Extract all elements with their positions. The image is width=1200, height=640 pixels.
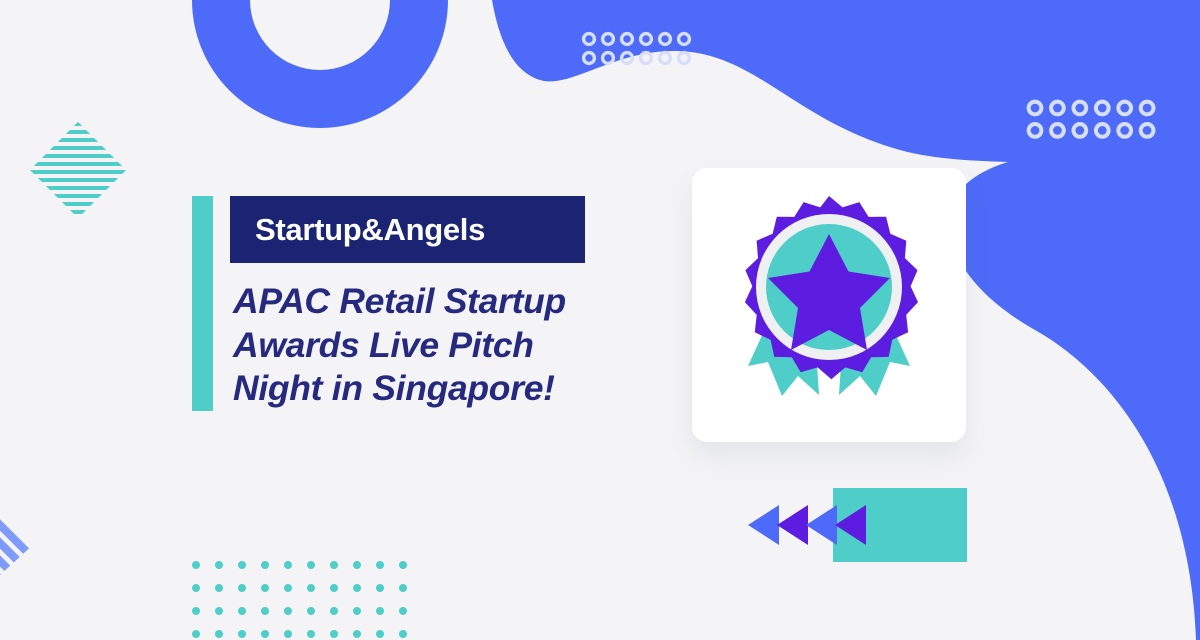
- brand-badge: Startup&Angels: [230, 196, 585, 263]
- event-banner: Startup&Angels APAC Retail Startup Award…: [0, 0, 1200, 640]
- headline-line-3: Night in Singapore!: [233, 367, 633, 411]
- accent-bar: [192, 196, 213, 411]
- brand-label: Startup&Angels: [230, 214, 485, 245]
- left-arrow-icon-3: [806, 505, 837, 545]
- left-arrow-icon-4: [835, 505, 866, 545]
- headline-line-1: APAC Retail Startup: [233, 280, 633, 324]
- page-title: APAC Retail Startup Awards Live Pitch Ni…: [233, 280, 633, 411]
- arrow-accent-group: [748, 488, 968, 562]
- award-badge-icon: [714, 190, 944, 420]
- award-badge-card: [692, 168, 966, 442]
- headline-block: Startup&Angels APAC Retail Startup Award…: [192, 196, 632, 414]
- left-arrow-icon-1: [748, 505, 779, 545]
- headline-line-2: Awards Live Pitch: [233, 324, 633, 368]
- left-arrow-icon-2: [777, 505, 808, 545]
